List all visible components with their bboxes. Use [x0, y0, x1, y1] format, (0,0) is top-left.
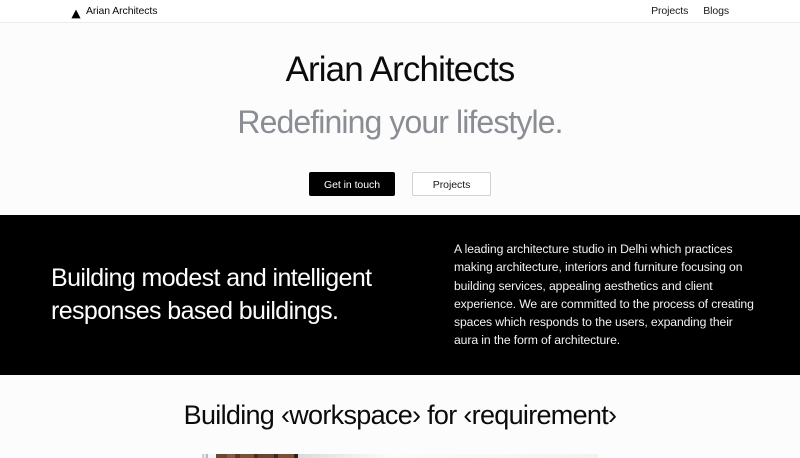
nav-link-blogs[interactable]: Blogs — [703, 5, 729, 17]
nav-link-projects[interactable]: Projects — [651, 5, 688, 17]
page-title: Arian Architects — [0, 49, 800, 90]
hero-actions: Get in touch Projects — [0, 172, 800, 196]
get-in-touch-button[interactable]: Get in touch — [309, 172, 395, 196]
tag-one-label: workspace — [289, 400, 412, 430]
showcase-title-prefix: Building — [184, 400, 274, 430]
interior-ceiling-photo[interactable] — [202, 454, 598, 458]
projects-button[interactable]: Projects — [412, 172, 491, 196]
intro-band: Building modest and intelligent response… — [0, 215, 800, 375]
site-header: Arian Architects Projects Blogs — [0, 0, 800, 23]
intro-heading: Building modest and intelligent response… — [51, 262, 446, 327]
showcase-title-middle: for — [427, 400, 456, 430]
hero-section: Arian Architects Redefining your lifesty… — [0, 23, 800, 215]
tag-two-close-bracket: › — [608, 400, 616, 430]
hero-subtitle: Redefining your lifestyle. — [0, 103, 800, 141]
photo-ceiling-bevel — [298, 454, 508, 458]
tag-two-label: requirement — [472, 400, 608, 430]
showcase-section: Building ‹workspace› for ‹requirement› — [0, 375, 800, 458]
intro-body: A leading architecture studio in Delhi w… — [454, 240, 754, 349]
triangle-logo-icon — [71, 6, 81, 16]
primary-nav: Projects Blogs — [651, 5, 729, 17]
showcase-media-wrap — [0, 454, 800, 458]
brand-name: Arian Architects — [86, 5, 157, 17]
showcase-title: Building ‹workspace› for ‹requirement› — [0, 399, 800, 431]
tag-one-close-bracket: › — [412, 400, 420, 430]
brand-logo[interactable]: Arian Architects — [71, 5, 157, 17]
tag-two-open-bracket: ‹ — [463, 400, 471, 430]
tag-one-open-bracket: ‹ — [281, 400, 289, 430]
